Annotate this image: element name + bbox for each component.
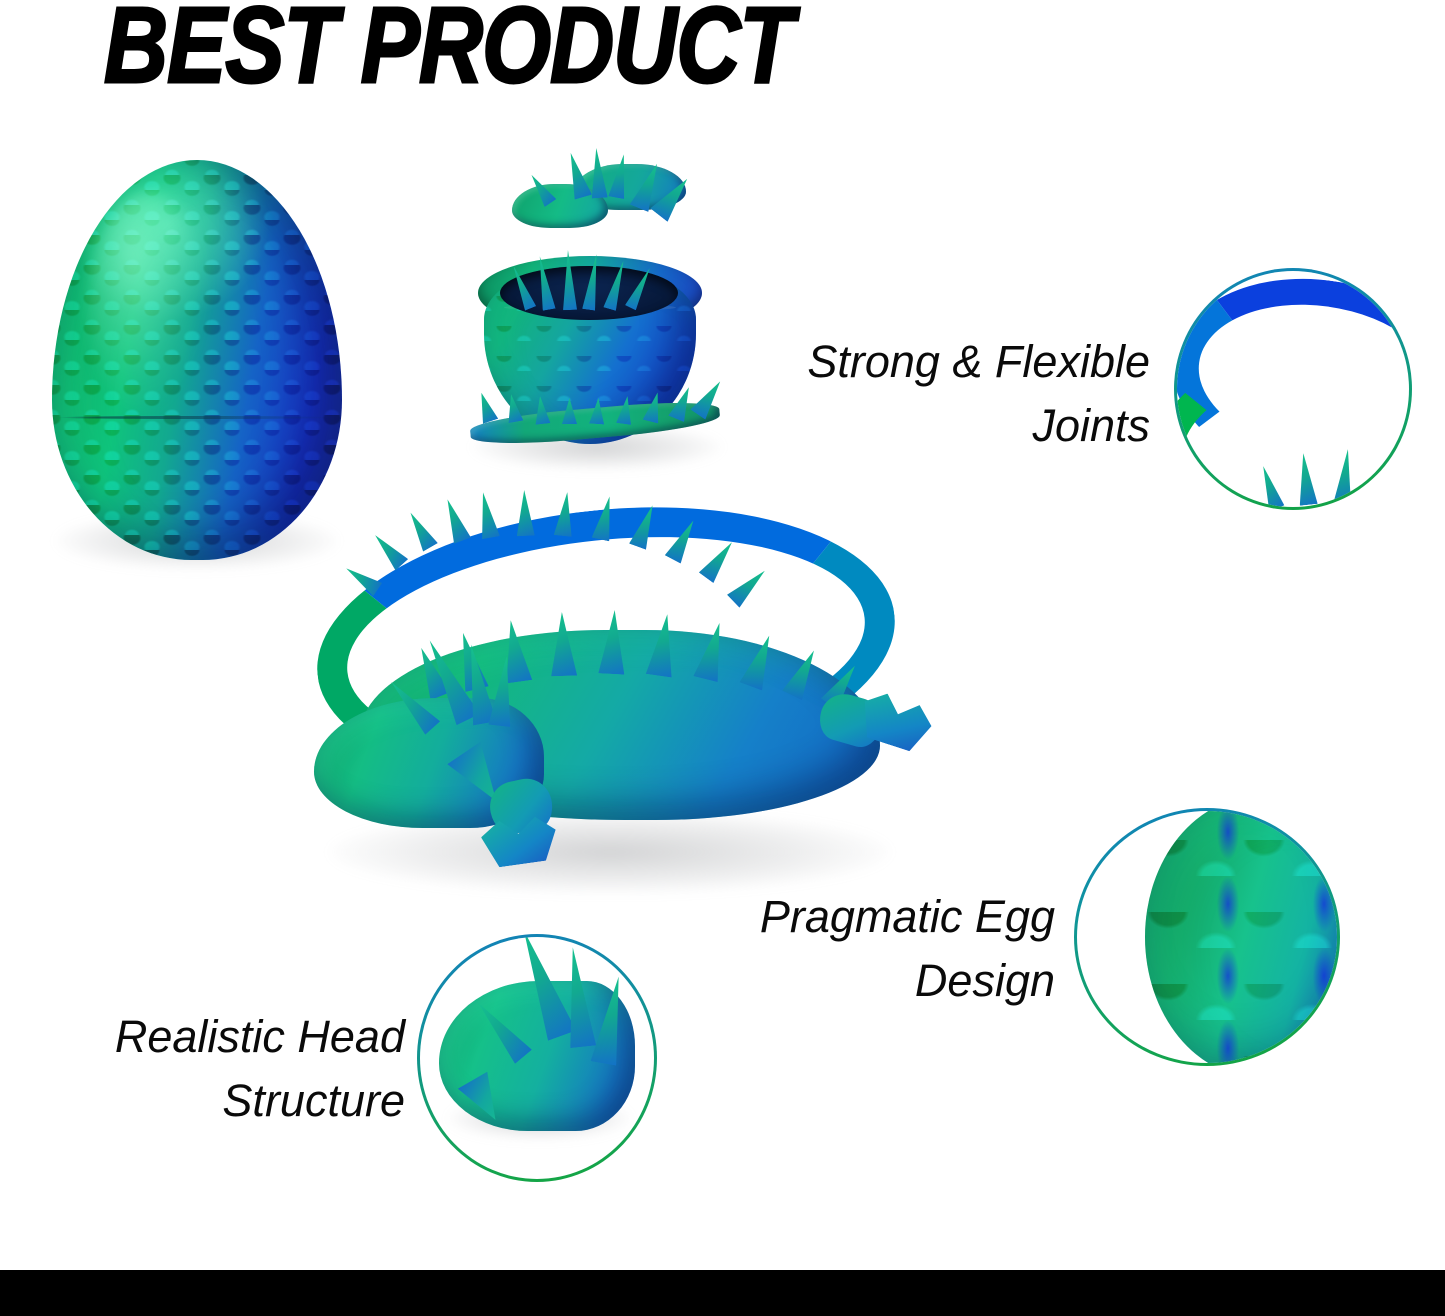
bottom-letterbox-bar — [0, 1270, 1445, 1316]
tail-spike — [629, 502, 661, 550]
tail-spike — [699, 537, 739, 583]
callout-image-coiled-dragon-body — [1177, 271, 1409, 507]
tail-spike — [592, 495, 619, 542]
egg-highlight — [87, 192, 209, 416]
tail-spike — [474, 390, 498, 423]
dragon-horn — [488, 655, 517, 727]
crystal-spike — [533, 255, 555, 310]
tail-spike — [554, 491, 577, 537]
dorsal-spike — [693, 620, 731, 682]
crystal-spike — [625, 266, 655, 311]
dorsal-spike — [739, 632, 780, 691]
callout-circle-pragmatic-egg-design — [1074, 808, 1340, 1066]
dorsal-spike — [598, 609, 627, 674]
tail-spike — [515, 490, 535, 537]
page-title: BEST PRODUCT — [104, 0, 793, 107]
tail-spike — [369, 529, 408, 570]
macro-blue-accents — [1145, 811, 1337, 1063]
tail-spike — [403, 508, 438, 551]
crystal-spike — [582, 253, 603, 310]
egg-macro-surface — [1145, 811, 1337, 1063]
dragon-horn — [384, 675, 440, 734]
tail-spike — [439, 496, 471, 544]
product-photo-closed-egg — [52, 160, 342, 560]
tail-spike — [474, 491, 500, 539]
callout-label-realistic-head-structure: Realistic Head Structure — [10, 1005, 405, 1133]
callout-image-egg-scale-texture — [1077, 811, 1337, 1063]
egg-seam-line — [58, 416, 336, 419]
crystal-spike — [1255, 464, 1284, 507]
crystal-spike — [1294, 452, 1317, 506]
crystal-spike — [1333, 448, 1357, 506]
tail-spike — [665, 516, 702, 563]
dorsal-spike — [646, 612, 680, 677]
callout-circle-realistic-head-structure — [417, 934, 657, 1182]
crystal-spike — [603, 259, 629, 311]
coil-bottom-spikes — [1251, 446, 1409, 507]
crystal-spike — [561, 250, 577, 310]
callout-circle-strong-flexible-joints — [1174, 268, 1412, 510]
crystal-spike — [508, 263, 536, 310]
inner-crystal-cluster — [506, 244, 678, 316]
product-image-canvas: BEST PRODUCT — [0, 0, 1445, 1316]
tail-spike — [342, 562, 382, 597]
dorsal-spike — [782, 646, 824, 701]
product-photo-articulated-dragon — [300, 480, 980, 910]
callout-label-strong-flexible-joints: Strong & Flexible Joints — [700, 330, 1150, 458]
egg-body — [52, 160, 342, 560]
crystal-spike — [1368, 455, 1398, 506]
callout-image-dragon-head — [420, 937, 654, 1179]
callout-label-pragmatic-egg-design: Pragmatic Egg Design — [640, 885, 1055, 1013]
head-horn-group — [340, 640, 560, 750]
